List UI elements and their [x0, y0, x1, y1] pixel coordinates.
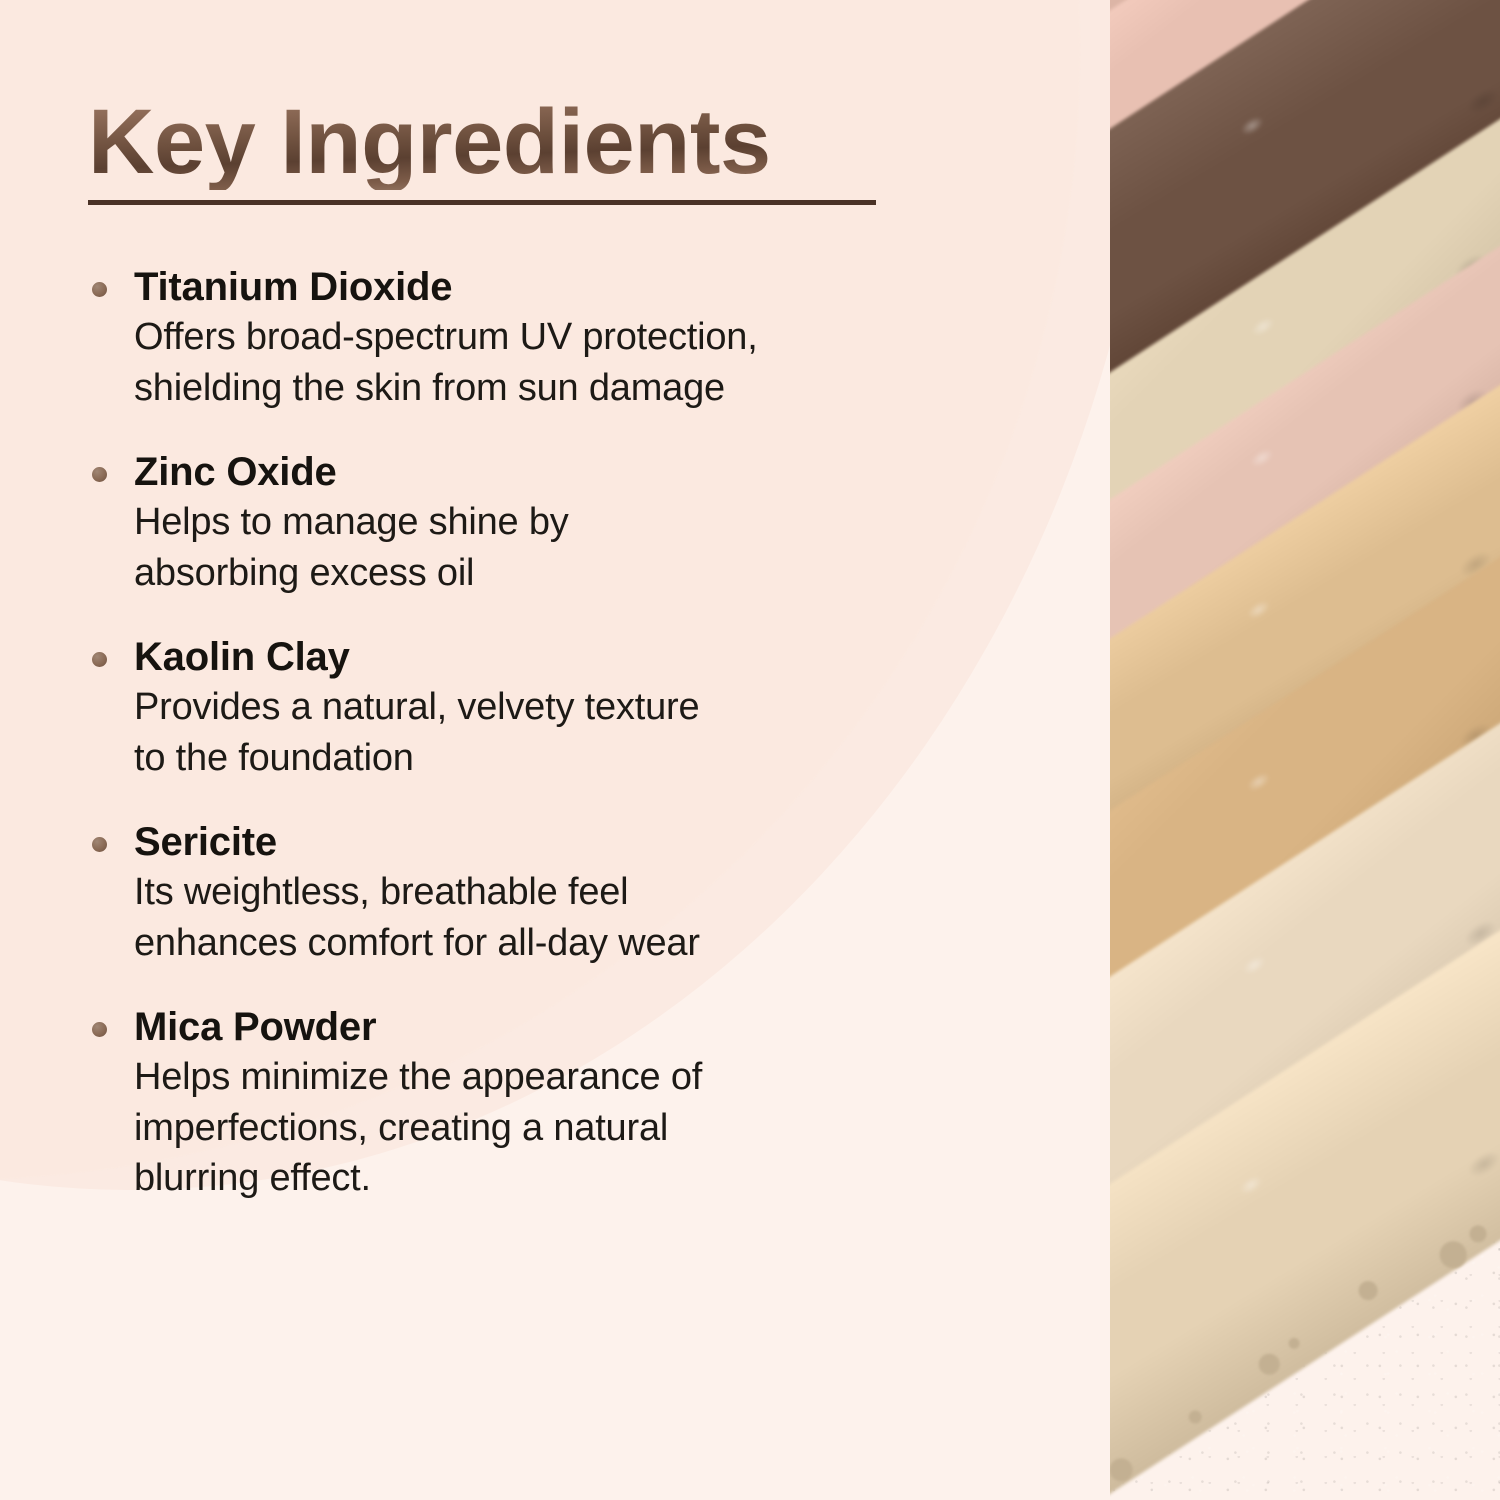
ingredient-item: Mica PowderHelps minimize the appearance…: [88, 1002, 1008, 1204]
content-column: Key Ingredients Titanium DioxideOffers b…: [0, 0, 1060, 1500]
ingredient-description-line: enhances comfort for all-day wear: [134, 918, 1008, 969]
page-title-underline: [88, 200, 876, 205]
ingredient-item: SericiteIts weightless, breathable feele…: [88, 817, 1008, 968]
powder-swatch-image: [1110, 0, 1500, 1500]
ingredient-description-line: Provides a natural, velvety texture: [134, 682, 1008, 733]
ingredient-name: Mica Powder: [134, 1002, 1008, 1052]
bullet-dot-icon: [92, 652, 107, 667]
ingredient-item: Kaolin ClayProvides a natural, velvety t…: [88, 632, 1008, 783]
page-title-block: Key Ingredients: [88, 96, 908, 190]
ingredient-list: Titanium DioxideOffers broad-spectrum UV…: [88, 262, 1008, 1204]
bullet-dot-icon: [92, 837, 107, 852]
ingredient-description-line: to the foundation: [134, 733, 1008, 784]
ingredient-description-line: shielding the skin from sun damage: [134, 363, 1008, 414]
ingredient-name: Sericite: [134, 817, 1008, 867]
ingredient-item: Zinc OxideHelps to manage shine byabsorb…: [88, 447, 1008, 598]
powder-bands-container: [1110, 0, 1500, 1500]
ingredient-description-line: Helps to manage shine by: [134, 497, 1008, 548]
ingredient-name: Zinc Oxide: [134, 447, 1008, 497]
ingredient-description-line: Offers broad-spectrum UV protection,: [134, 312, 1008, 363]
ingredient-description-line: blurring effect.: [134, 1153, 1008, 1204]
ingredient-description-line: imperfections, creating a natural: [134, 1103, 1008, 1154]
ingredient-description: Offers broad-spectrum UV protection,shie…: [134, 312, 1008, 413]
bullet-dot-icon: [92, 467, 107, 482]
ingredient-description: Helps minimize the appearance ofimperfec…: [134, 1052, 1008, 1204]
ingredient-description: Its weightless, breathable feelenhances …: [134, 867, 1008, 968]
ingredient-description-line: Its weightless, breathable feel: [134, 867, 1008, 918]
infographic-page: Key Ingredients Titanium DioxideOffers b…: [0, 0, 1500, 1500]
ingredient-name: Titanium Dioxide: [134, 262, 1008, 312]
ingredient-description: Helps to manage shine byabsorbing excess…: [134, 497, 1008, 598]
bullet-dot-icon: [92, 1022, 107, 1037]
ingredient-description: Provides a natural, velvety textureto th…: [134, 682, 1008, 783]
ingredient-name: Kaolin Clay: [134, 632, 1008, 682]
ingredient-item: Titanium DioxideOffers broad-spectrum UV…: [88, 262, 1008, 413]
page-title: Key Ingredients: [88, 96, 771, 190]
bullet-dot-icon: [92, 282, 107, 297]
ingredient-description-line: absorbing excess oil: [134, 548, 1008, 599]
ingredient-description-line: Helps minimize the appearance of: [134, 1052, 1008, 1103]
